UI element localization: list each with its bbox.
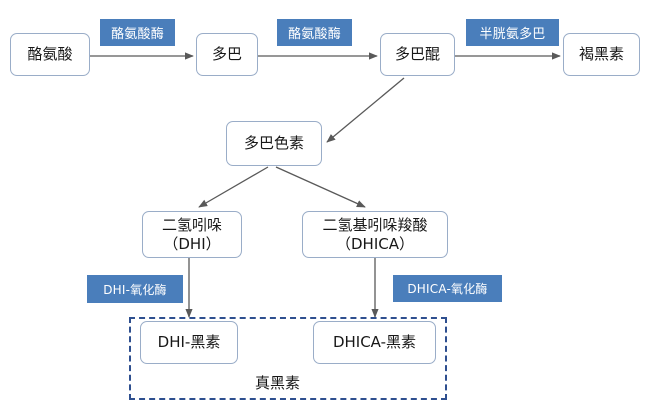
chip-cysteinyldopa-label: 半胱氨多巴 <box>479 23 545 42</box>
chip-dhica-oxidase-label: DHICA-氧化酶 <box>407 280 487 297</box>
chip-cysteinyldopa[interactable]: 半胱氨多巴 <box>466 19 559 46</box>
node-pheomelanin[interactable]: 褐黑素 <box>563 33 640 76</box>
node-dhi-melanin-label: DHI-黑素 <box>158 333 221 352</box>
node-dhi[interactable]: 二氢吲哚 （DHI） <box>142 211 242 258</box>
node-dhica-sublabel: （DHICA） <box>336 235 414 254</box>
node-dhica[interactable]: 二氢基吲哚羧酸 （DHICA） <box>302 211 448 258</box>
edge-dopachrome-to-dhica <box>276 167 365 207</box>
edge-dopachrome-to-dhi <box>199 167 268 207</box>
chip-dhi-oxidase[interactable]: DHI-氧化酶 <box>87 275 183 303</box>
eumelanin-group-caption: 真黑素 <box>255 372 300 393</box>
node-dhi-melanin[interactable]: DHI-黑素 <box>140 321 238 364</box>
chip-tyrosinase-1-label: 酪氨酸酶 <box>111 23 164 42</box>
chip-tyrosinase-2[interactable]: 酪氨酸酶 <box>277 19 352 46</box>
node-dopa[interactable]: 多巴 <box>196 33 258 76</box>
node-dopachrome-label: 多巴色素 <box>244 134 304 153</box>
node-tyrosine[interactable]: 酪氨酸 <box>10 33 90 76</box>
node-dhica-melanin-label: DHICA-黑素 <box>333 333 416 352</box>
node-dopa-label: 多巴 <box>212 45 242 64</box>
node-dopaquinone-label: 多巴醌 <box>395 45 440 64</box>
chip-tyrosinase-2-label: 酪氨酸酶 <box>288 23 341 42</box>
chip-dhica-oxidase[interactable]: DHICA-氧化酶 <box>393 275 502 302</box>
chip-dhi-oxidase-label: DHI-氧化酶 <box>103 281 167 298</box>
node-dhica-melanin[interactable]: DHICA-黑素 <box>313 321 436 364</box>
node-dhica-label: 二氢基吲哚羧酸 <box>322 216 427 235</box>
node-dopachrome[interactable]: 多巴色素 <box>226 121 322 166</box>
node-pheomelanin-label: 褐黑素 <box>579 45 624 64</box>
node-dhi-label: 二氢吲哚 <box>162 216 222 235</box>
node-dopaquinone[interactable]: 多巴醌 <box>380 33 455 76</box>
node-dhi-sublabel: （DHI） <box>163 235 220 254</box>
edge-dopaquinone-to-dopachrome <box>327 78 404 142</box>
node-tyrosine-label: 酪氨酸 <box>27 45 72 64</box>
pathway-diagram: 真黑素 酪氨酸 多巴 多巴醌 褐黑素 多巴色素 二氢吲哚 （DHI） 二氢基吲哚… <box>0 0 650 414</box>
chip-tyrosinase-1[interactable]: 酪氨酸酶 <box>100 19 175 46</box>
